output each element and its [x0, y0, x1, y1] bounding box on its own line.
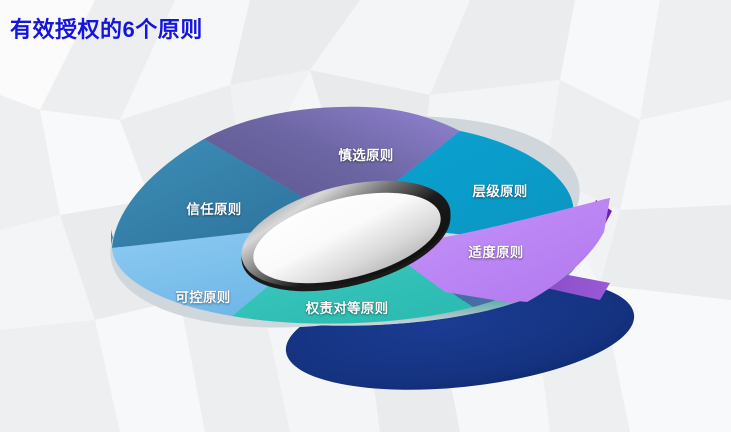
slide-canvas: 有效授权的6个原则: [0, 0, 731, 432]
segment-label-kekong: 可控原则: [175, 286, 230, 306]
segment-label-shenxuan: 慎选原则: [338, 144, 393, 164]
segment-label-shidu: 适度原则: [468, 241, 523, 261]
page-title: 有效授权的6个原则: [10, 12, 203, 44]
segment-label-xinren: 信任原则: [186, 198, 241, 218]
exploded-doughnut-diagram: [0, 0, 731, 432]
segment-label-cengji: 层级原则: [472, 180, 527, 200]
segment-label-quanze: 权责对等原则: [306, 297, 389, 317]
